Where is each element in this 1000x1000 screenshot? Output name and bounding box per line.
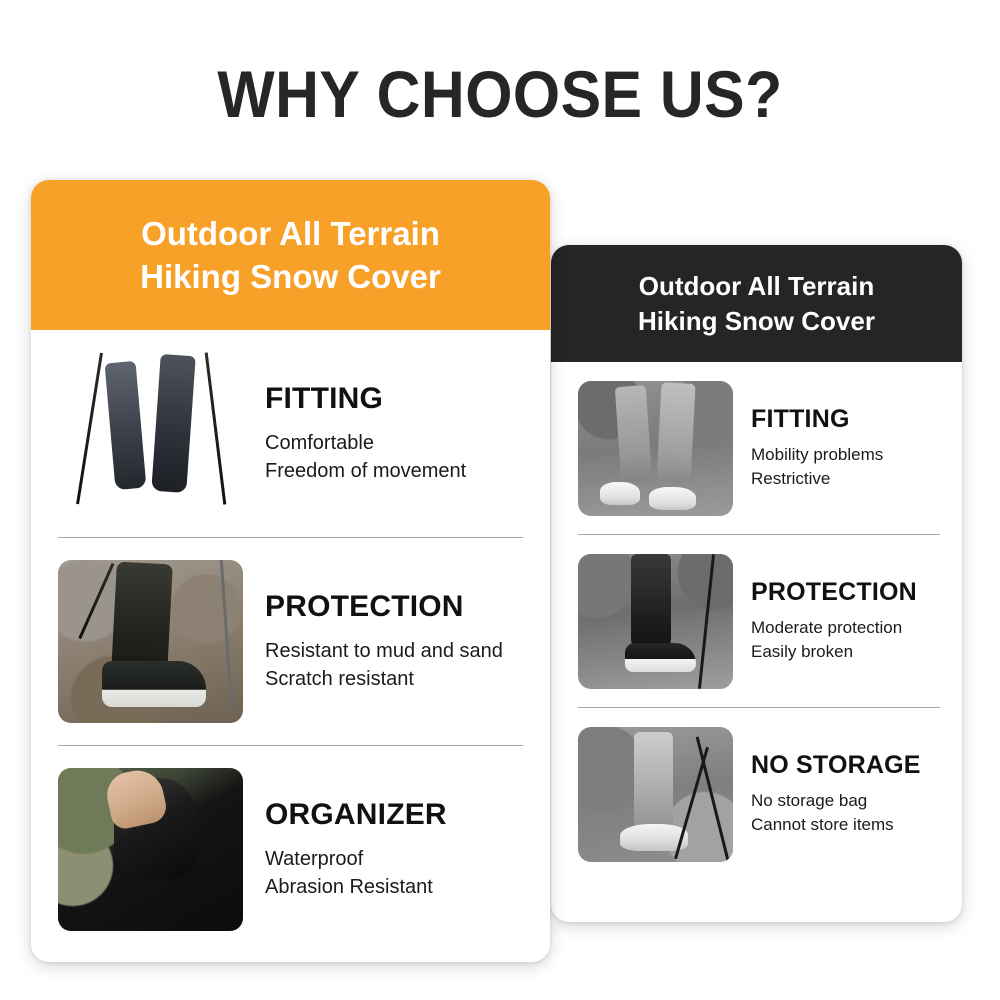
our-product-card: Outdoor All Terrain Hiking Snow Cover FI… (31, 180, 550, 962)
feature-text: ORGANIZER Waterproof Abrasion Resistant (265, 798, 522, 901)
feature-text: NO STORAGE No storage bag Cannot store i… (751, 751, 940, 837)
dark-gaiter-leaf-ground-photo (578, 554, 733, 689)
feature-text: PROTECTION Resistant to mud and sand Scr… (265, 590, 522, 693)
tall-khaki-gaiter-pole-photo (578, 727, 733, 862)
feature-line: Abrasion Resistant (265, 873, 522, 901)
feature-title: ORGANIZER (265, 798, 522, 832)
why-choose-us-page: WHY CHOOSE US? Outdoor All Terrain Hikin… (0, 0, 1000, 1000)
hand-holding-waterproof-bag-photo (58, 768, 243, 931)
muddy-gaiter-boot-photo (58, 560, 243, 723)
two-legs-khaki-gaiters-photo (578, 381, 733, 516)
our-product-header-line-2: Hiking Snow Cover (140, 255, 441, 298)
feature-line: Waterproof (265, 845, 522, 873)
feature-line: Cannot store items (751, 813, 940, 837)
competitor-header-line-1: Outdoor All Terrain (638, 269, 875, 304)
feature-title: FITTING (751, 405, 940, 433)
feature-text: FITTING Mobility problems Restrictive (751, 405, 940, 491)
feature-title: PROTECTION (265, 590, 522, 624)
feature-row: ORGANIZER Waterproof Abrasion Resistant (31, 746, 550, 953)
feature-line: Scratch resistant (265, 665, 522, 693)
feature-line: Freedom of movement (265, 457, 522, 485)
our-product-header-line-1: Outdoor All Terrain (140, 212, 441, 255)
page-title: WHY CHOOSE US? (40, 58, 960, 130)
feature-row: PROTECTION Moderate protection Easily br… (551, 535, 962, 707)
feature-line: Resistant to mud and sand (265, 637, 522, 665)
competitor-card-header: Outdoor All Terrain Hiking Snow Cover (551, 245, 962, 362)
feature-title: FITTING (265, 382, 522, 416)
feature-text: FITTING Comfortable Freedom of movement (265, 382, 522, 485)
feature-row: PROTECTION Resistant to mud and sand Scr… (31, 538, 550, 745)
feature-line: Moderate protection (751, 616, 940, 640)
competitor-product-card: Outdoor All Terrain Hiking Snow Cover FI… (551, 245, 962, 922)
feature-text: PROTECTION Moderate protection Easily br… (751, 578, 940, 664)
feature-title: NO STORAGE (751, 751, 940, 779)
competitor-header-line-2: Hiking Snow Cover (638, 304, 875, 339)
feature-line: Mobility problems (751, 443, 940, 467)
competitor-feature-list: FITTING Mobility problems Restrictive PR… (551, 362, 962, 880)
feature-row: FITTING Mobility problems Restrictive (551, 362, 962, 534)
hiker-legs-rocky-trail-photo (58, 352, 243, 515)
feature-line: Restrictive (751, 467, 940, 491)
feature-title: PROTECTION (751, 578, 940, 606)
feature-line: Easily broken (751, 640, 940, 664)
feature-line: Comfortable (265, 429, 522, 457)
feature-line: No storage bag (751, 789, 940, 813)
feature-row: NO STORAGE No storage bag Cannot store i… (551, 708, 962, 880)
our-product-card-header: Outdoor All Terrain Hiking Snow Cover (31, 180, 550, 330)
our-product-feature-list: FITTING Comfortable Freedom of movement … (31, 330, 550, 953)
feature-row: FITTING Comfortable Freedom of movement (31, 330, 550, 537)
